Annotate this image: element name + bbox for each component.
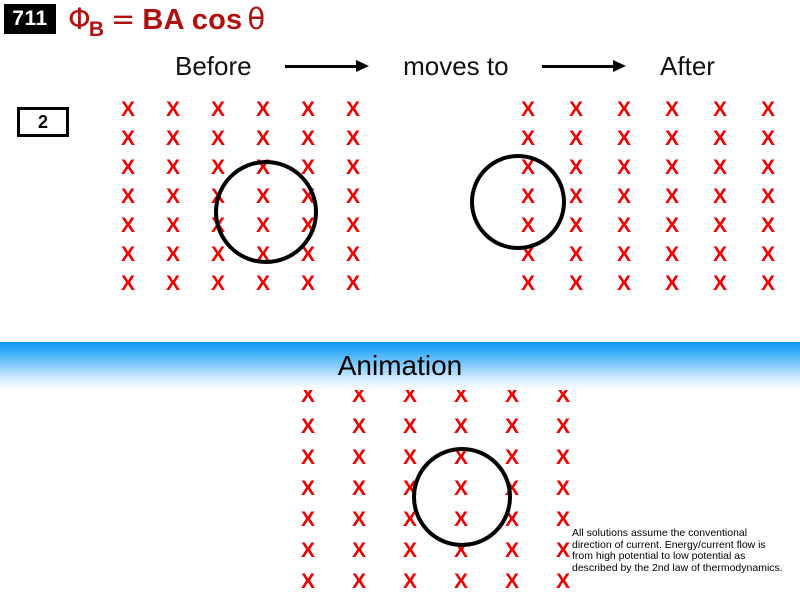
field-x-mark: X [504,540,520,561]
field-x-mark: X [504,447,520,468]
disclaimer-text: All solutions assume the conventional di… [572,528,786,574]
animation-label[interactable]: Animation [0,350,800,382]
field-x-mark: X [555,509,571,530]
field-x-mark: X [555,540,571,561]
field-x-mark: X [504,416,520,437]
field-x-mark: X [351,447,367,468]
field-x-mark: X [453,416,469,437]
field-x-mark: X [300,478,316,499]
magnetic-field-grid-animation: XXXXXXXXXXXXXXXXXXXXXXXXXXXXXXXXXXXXXXXX… [0,0,800,600]
field-x-mark: X [402,416,418,437]
field-x-mark: X [402,447,418,468]
field-x-mark: X [555,447,571,468]
field-x-mark: X [300,571,316,592]
conducting-loop-animation [412,447,512,547]
field-x-mark: X [555,478,571,499]
field-x-mark: X [351,571,367,592]
field-x-mark: X [300,416,316,437]
field-x-mark: X [555,416,571,437]
field-x-mark: X [351,478,367,499]
field-x-mark: X [351,509,367,530]
field-x-mark: X [300,447,316,468]
field-x-mark: X [504,571,520,592]
field-x-mark: X [351,540,367,561]
field-x-mark: X [300,509,316,530]
field-x-mark: X [555,571,571,592]
field-x-mark: X [453,571,469,592]
field-x-mark: X [402,540,418,561]
field-x-mark: X [300,540,316,561]
field-x-mark: X [351,416,367,437]
field-x-mark: X [402,571,418,592]
